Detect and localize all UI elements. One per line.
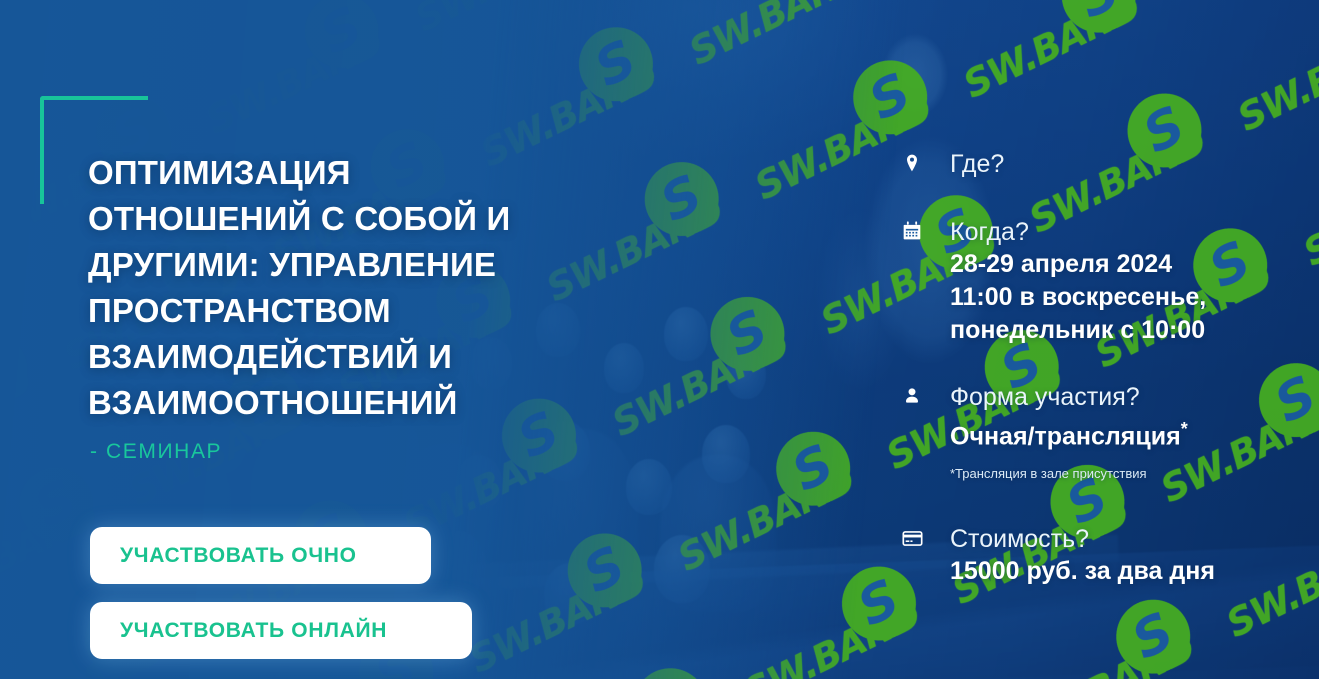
detail-question-price: Стоимость? [950,523,1290,555]
detail-answer-when-time2: понедельник с 10:00 [950,314,1290,347]
participate-online-button[interactable]: УЧАСТВОВАТЬ ОНЛАЙН [90,602,472,659]
cta-button-group: УЧАСТВОВАТЬ ОЧНО УЧАСТВОВАТЬ ОНЛАЙН [90,527,472,659]
detail-answer-when-time1: 11:00 в воскресенье, [950,281,1290,314]
detail-answer-format-text: Очная/трансляция [950,422,1181,450]
detail-row-where: Где? [900,148,1290,180]
participate-online-label: УЧАСТВОВАТЬ ОНЛАЙН [120,619,387,643]
title-line: ДРУГИМИ: УПРАВЛЕНИЕ [88,242,708,288]
format-footnote: *Трансляция в зале присутствия [950,465,1290,483]
page-title: ОПТИМИЗАЦИЯ ОТНОШЕНИЙ С СОБОЙ И ДРУГИМИ:… [88,150,708,426]
detail-row-price: Стоимость? 15000 руб. за два дня [900,523,1290,588]
map-pin-icon [900,151,924,175]
title-line: ВЗАИМОДЕЙСТВИЙ И [88,334,708,380]
calendar-icon [900,219,924,243]
title-line: ВЗАИМООТНОШЕНИЙ [88,380,708,426]
detail-question-format: Форма участия? [950,381,1290,413]
detail-answer-when-date: 28-29 апреля 2024 [950,248,1290,281]
hero-content: ОПТИМИЗАЦИЯ ОТНОШЕНИЙ С СОБОЙ И ДРУГИМИ:… [0,0,1319,679]
participate-offline-button[interactable]: УЧАСТВОВАТЬ ОЧНО [90,527,431,584]
credit-card-icon [900,526,924,550]
detail-row-when: Когда? 28-29 апреля 2024 11:00 в воскрес… [900,216,1290,347]
title-line: ПРОСТРАНСТВОМ [88,288,708,334]
title-line: ОТНОШЕНИЙ С СОБОЙ И [88,196,708,242]
footnote-marker: * [1181,419,1188,439]
detail-question-where: Где? [950,148,1290,180]
hero-left-column: ОПТИМИЗАЦИЯ ОТНОШЕНИЙ С СОБОЙ И ДРУГИМИ:… [88,150,708,464]
detail-question-when: Когда? [950,216,1290,248]
detail-row-format: Форма участия? Очная/трансляция* *Трансл… [900,381,1290,483]
detail-answer-format: Очная/трансляция* [950,413,1290,453]
person-icon [900,384,924,408]
title-line: ОПТИМИЗАЦИЯ [88,150,708,196]
hero-banner: SW.BANDSW.BANDSW.BANDSW.BANDSW.BANDSW.BA… [0,0,1319,679]
participate-offline-label: УЧАСТВОВАТЬ ОЧНО [120,544,357,568]
page-subtitle: - СЕМИНАР [90,440,708,464]
detail-answer-price: 15000 руб. за два дня [950,555,1290,588]
event-details-panel: Где? Когда? 28-29 апреля 2024 11:00 в во… [900,148,1290,588]
